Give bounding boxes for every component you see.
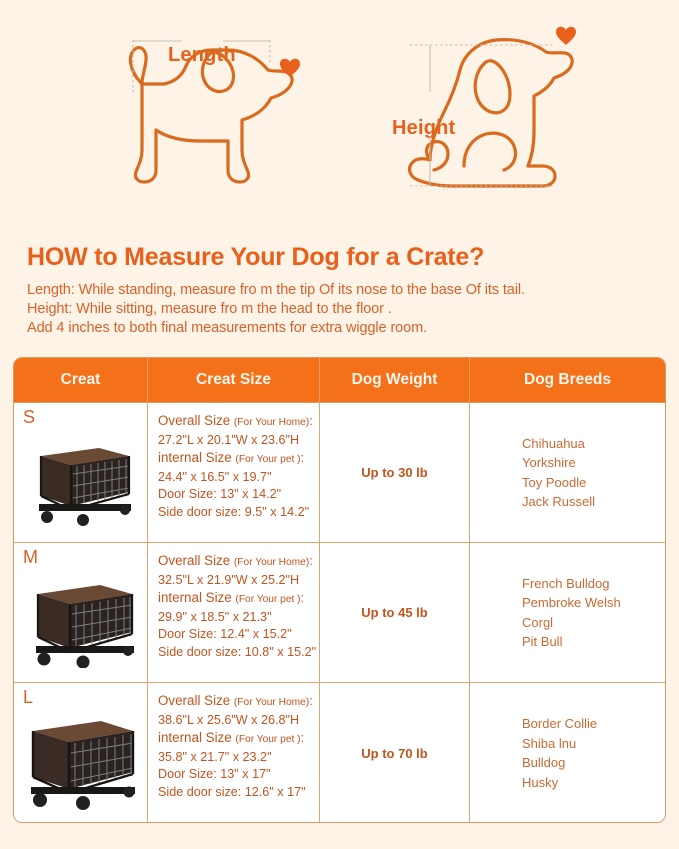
- dog-crate-large-image: [14, 697, 147, 819]
- spec-line: internal Size (For Your pet ):: [158, 449, 313, 469]
- crate-size-cell: Overall Size (For Your Home): 27.2"L x 2…: [148, 403, 320, 542]
- spec-line: Side door size: 12.6" x 17": [158, 784, 313, 802]
- sitting-dog-outline-icon: [378, 0, 603, 225]
- crate-size-cell: Overall Size (For Your Home): 38.6"L x 2…: [148, 683, 320, 823]
- breed-list: French Bulldog Pembroke Welsh Corgl Pit …: [522, 574, 621, 652]
- spec-line: Side door size: 9.5" x 14.2": [158, 504, 313, 522]
- spec-line: 32.5"L x 21.9"W x 25.2"H: [158, 572, 313, 590]
- breed-item: Shiba lnu: [522, 734, 597, 754]
- spec-line: Overall Size (For Your Home):: [158, 692, 313, 712]
- spec-line: internal Size (For Your pet ):: [158, 589, 313, 609]
- table-row: S: [14, 403, 665, 543]
- breed-item: Chihuahua: [522, 434, 595, 454]
- breed-item: Border Collie: [522, 714, 597, 734]
- breed-item: Pit Bull: [522, 632, 621, 652]
- dog-crate-medium-image: [14, 557, 147, 678]
- instruction-line-height: Height: While sitting, measure fro m the…: [27, 300, 652, 319]
- spec-line: 29.9" x 18.5" x 21.3": [158, 609, 313, 627]
- dog-weight-cell: Up to 70 lb: [320, 683, 470, 823]
- dog-crate-small-image: [14, 417, 147, 538]
- table-row: M: [14, 543, 665, 683]
- breed-list: Border Collie Shiba lnu Bulldog Husky: [522, 714, 597, 792]
- breed-item: Toy Poodle: [522, 473, 595, 493]
- spec-line: Overall Size (For Your Home):: [158, 412, 313, 432]
- spec-line: 24.4" x 16.5" x 19.7": [158, 469, 313, 487]
- spec-list: Overall Size (For Your Home): 27.2"L x 2…: [148, 403, 319, 521]
- table-header-row: Creat Creat Size Dog Weight Dog Breeds: [14, 358, 665, 403]
- spec-line: 27.2"L x 20.1"W x 23.6"H: [158, 432, 313, 450]
- breed-item: Bulldog: [522, 753, 597, 773]
- breed-item: Pembroke Welsh: [522, 593, 621, 613]
- breed-item: Yorkshire: [522, 453, 595, 473]
- page-title: HOW to Measure Your Dog for a Crate?: [27, 243, 652, 272]
- spec-list: Overall Size (For Your Home): 32.5"L x 2…: [148, 543, 319, 661]
- breed-list: Chihuahua Yorkshire Toy Poodle Jack Russ…: [522, 434, 595, 512]
- spec-line: Door Size: 13" x 17": [158, 766, 313, 784]
- breed-item: Husky: [522, 773, 597, 793]
- breed-item: French Bulldog: [522, 574, 621, 594]
- column-header-crate: Creat: [14, 358, 148, 402]
- spec-line: Door Size: 13" x 14.2": [158, 486, 313, 504]
- heart-icon: [280, 59, 300, 77]
- dog-breeds-cell: French Bulldog Pembroke Welsh Corgl Pit …: [470, 543, 665, 682]
- dog-weight-cell: Up to 45 lb: [320, 543, 470, 682]
- measurement-illustrations: Length Height: [0, 0, 679, 225]
- spec-line: internal Size (For Your pet ):: [158, 729, 313, 749]
- breed-item: Corgl: [522, 613, 621, 633]
- dog-breeds-cell: Chihuahua Yorkshire Toy Poodle Jack Russ…: [470, 403, 665, 542]
- spec-line: Side door size: 10.8" x 15.2": [158, 644, 313, 662]
- spec-line: Overall Size (For Your Home):: [158, 552, 313, 572]
- breed-item: Jack Russell: [522, 492, 595, 512]
- standing-dog-outline-icon: [108, 0, 328, 220]
- dog-breeds-cell: Border Collie Shiba lnu Bulldog Husky: [470, 683, 665, 823]
- column-header-dog-breeds: Dog Breeds: [470, 358, 665, 402]
- column-header-dog-weight: Dog Weight: [320, 358, 470, 402]
- spec-line: Door Size: 12.4" x 15.2": [158, 626, 313, 644]
- heart-icon: [556, 27, 576, 45]
- crate-cell: M: [14, 543, 148, 682]
- size-chart-table: Creat Creat Size Dog Weight Dog Breeds S: [13, 357, 666, 823]
- crate-size-cell: Overall Size (For Your Home): 32.5"L x 2…: [148, 543, 320, 682]
- table-row: L: [14, 683, 665, 823]
- crate-cell: L: [14, 683, 148, 823]
- spec-list: Overall Size (For Your Home): 38.6"L x 2…: [148, 683, 319, 801]
- spec-line: 38.6"L x 25.6"W x 26.8"H: [158, 712, 313, 730]
- instruction-line-length: Length: While standing, measure fro m th…: [27, 281, 652, 300]
- crate-cell: S: [14, 403, 148, 542]
- heading-block: HOW to Measure Your Dog for a Crate? Len…: [27, 243, 652, 338]
- weight-value: Up to 30 lb: [361, 465, 427, 480]
- spec-line: 35.8" x 21.7" x 23.2": [158, 749, 313, 767]
- instruction-line-wiggle: Add 4 inches to both final measurements …: [27, 319, 652, 338]
- weight-value: Up to 70 lb: [361, 746, 427, 761]
- dog-crate-size-guide: Length Height: [0, 0, 679, 849]
- dog-weight-cell: Up to 30 lb: [320, 403, 470, 542]
- weight-value: Up to 45 lb: [361, 605, 427, 620]
- column-header-crate-size: Creat Size: [148, 358, 320, 402]
